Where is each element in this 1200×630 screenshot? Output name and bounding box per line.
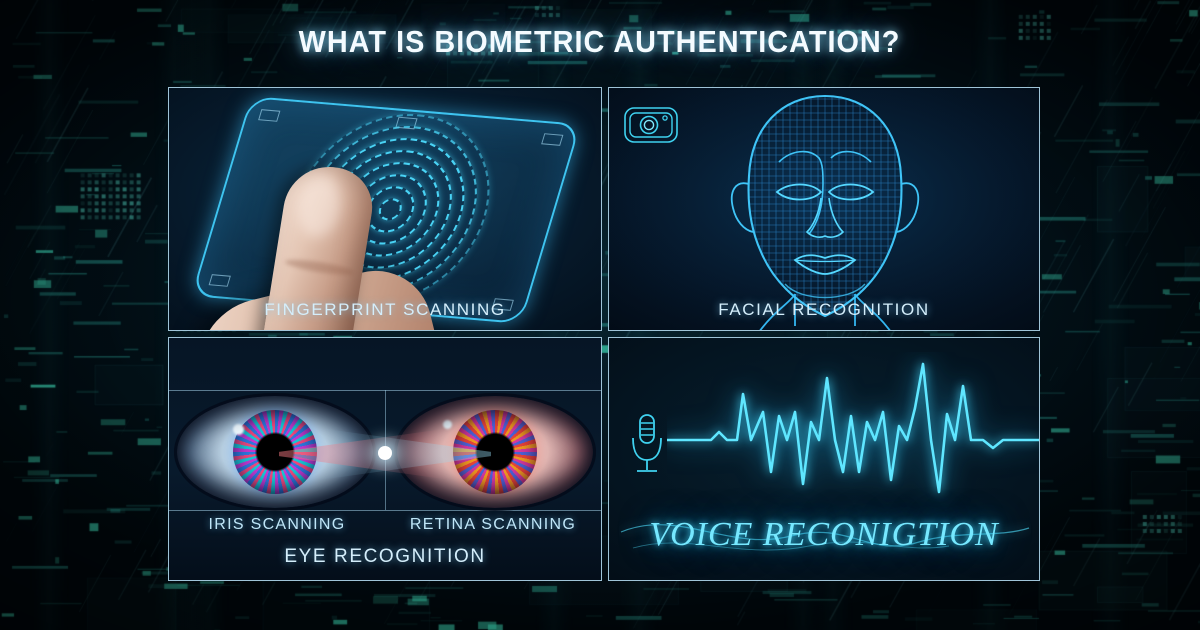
panel-caption-fingerprint: FINGERPRINT SCANNING (169, 300, 601, 320)
knuckle-crease (284, 257, 355, 278)
panel-caption-eye: EYE RECOGNITION (169, 546, 601, 568)
panel-facial-recognition[interactable]: FACIAL RECOGNITION (608, 87, 1040, 331)
plate-corner-mark (258, 109, 280, 122)
panel-fingerprint-scanning[interactable]: FINGERPRINT SCANNING (168, 87, 602, 331)
iris-eye-highlight (233, 424, 244, 435)
camera-icon[interactable] (623, 102, 679, 146)
page-title-wrap: WHAT IS BIOMETRIC AUTHENTICATION? (0, 24, 1200, 60)
sub-label-retina-scanning: RETINA SCANNING (385, 516, 601, 534)
plate-corner-mark (209, 274, 231, 287)
scan-focus-point (378, 446, 392, 460)
sub-label-iris-scanning: IRIS SCANNING (169, 516, 385, 534)
eye-bottom-divider (169, 510, 601, 511)
plate-corner-mark (541, 133, 563, 146)
page-title: WHAT IS BIOMETRIC AUTHENTICATION? (299, 24, 901, 60)
fingerprint-illustration (169, 88, 601, 330)
voice-waveform (667, 352, 1039, 522)
panel-voice-recognition[interactable]: VOICE RECONIGTION (608, 337, 1040, 581)
panel-eye-recognition[interactable]: IRIS SCANNING RETINA SCANNING EYE RECOGN… (168, 337, 602, 581)
microphone-icon[interactable] (625, 412, 669, 478)
retina-eye-highlight (443, 420, 452, 429)
panel-caption-facial: FACIAL RECOGNITION (609, 300, 1039, 320)
panel-caption-voice: VOICE RECONIGTION (609, 516, 1039, 554)
biometric-panel-grid: FINGERPRINT SCANNING (168, 87, 1034, 581)
